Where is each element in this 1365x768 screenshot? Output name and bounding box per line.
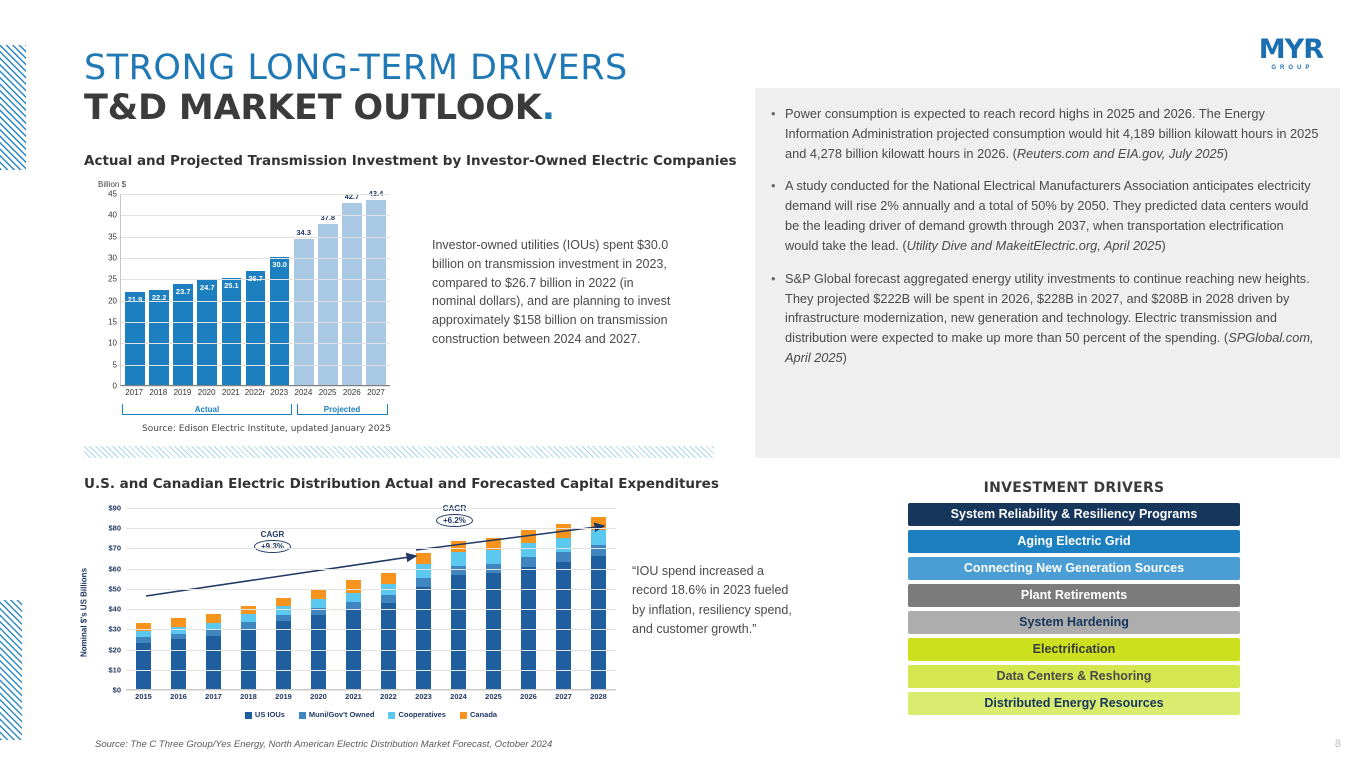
chart2-bar-group (126, 508, 161, 689)
chart2-bar-segment (556, 538, 571, 553)
chart2-bar-group (546, 508, 581, 689)
chart1-x-tick: 2025 (316, 388, 340, 397)
chart1-gridline: 35 (121, 237, 390, 238)
chart2-legend-item: US IOUs (245, 710, 285, 719)
slide-kicker: STRONG LONG-TERM DRIVERS (84, 48, 628, 88)
chart1-y-axis-title: Billion $ (98, 180, 126, 189)
chart1-bar: 22.2 (149, 290, 169, 385)
chart2-source: Source: The C Three Group/Yes Energy, No… (95, 739, 552, 750)
chart1-bar: 24.7 (197, 280, 217, 385)
chart2-gridline: $70 (126, 548, 616, 549)
chart2-y-tick: $70 (108, 544, 121, 553)
chart2-bar-segment (136, 631, 151, 638)
chart2-y-tick: $50 (108, 584, 121, 593)
chart2-bar-segment (591, 545, 606, 556)
chart2-y-tick: $30 (108, 625, 121, 634)
chart2-y-tick: $60 (108, 564, 121, 573)
chart2-stacked-bar (486, 538, 501, 689)
chart2-x-tick: 2022 (371, 692, 406, 701)
chart2-bar-segment (486, 573, 501, 689)
chart2-x-axis: 2015201620172018201920202021202220232024… (126, 692, 616, 701)
chart2-bar-segment (451, 552, 466, 566)
upper-chart-heading: Actual and Projected Transmission Invest… (84, 153, 737, 169)
chart2-y-tick: $20 (108, 645, 121, 654)
chart2-bar-segment (311, 615, 326, 689)
chart2-stacked-bar (206, 614, 221, 689)
chart2-stacked-bar (591, 517, 606, 689)
chart1-gridline: 20 (121, 301, 390, 302)
chart1-bars: 21.922.223.724.725.126.730.034.337.842.7… (121, 194, 390, 385)
chart2-bar-segment (451, 541, 466, 552)
chart2-bar-segment (311, 599, 326, 608)
chart2-y-tick: $90 (108, 504, 121, 513)
distribution-capex-chart: Nominal $'s US Billions CAGR +9.3% CAGR … (90, 500, 635, 730)
chart2-stacked-bar (241, 606, 256, 689)
chart2-x-tick: 2018 (231, 692, 266, 701)
chart2-stacked-bar (136, 623, 151, 690)
chart2-x-tick: 2026 (511, 692, 546, 701)
investment-driver-bar[interactable]: Plant Retirements (908, 584, 1240, 607)
chart2-y-tick: $0 (113, 686, 121, 695)
chart1-x-tick: 2023 (267, 388, 291, 397)
chart2-bar-segment (451, 566, 466, 575)
chart1-bar-value: 34.3 (294, 228, 314, 237)
chart2-bar-segment (241, 614, 256, 622)
bullet-text: Power consumption is expected to reach r… (785, 104, 1320, 163)
chart1-bar-group: 43.4 (364, 194, 388, 385)
upper-side-note: Investor-owned utilities (IOUs) spent $3… (432, 236, 672, 349)
chart2-legend-item: Canada (460, 710, 497, 719)
chart2-bar-segment (276, 621, 291, 689)
chart2-x-tick: 2024 (441, 692, 476, 701)
chart2-legend-swatch (388, 712, 395, 719)
chart2-stacked-bar (276, 598, 291, 689)
chart2-bar-group (301, 508, 336, 689)
chart1-bar-value: 30.0 (270, 260, 290, 269)
chart1-gridline: 0 (121, 386, 390, 387)
chart1-x-tick: 2019 (170, 388, 194, 397)
chart1-y-tick: 40 (108, 211, 117, 220)
cagr-value-2: +6.2% (436, 514, 473, 527)
investment-drivers-panel: INVESTMENT DRIVERS System Reliability & … (908, 480, 1240, 719)
bullet-item: •A study conducted for the National Elec… (771, 176, 1320, 255)
page-title: T&D MARKET OUTLOOK. (84, 88, 555, 128)
chart2-bar-segment (276, 598, 291, 606)
chart1-y-tick: 20 (108, 296, 117, 305)
chart2-x-tick: 2017 (196, 692, 231, 701)
chart1-bar: 30.0 (270, 257, 290, 385)
chart2-bar-group (581, 508, 616, 689)
key-drivers-bullet-panel: •Power consumption is expected to reach … (755, 88, 1340, 458)
chart1-y-tick: 0 (113, 382, 117, 391)
chart1-y-tick: 10 (108, 339, 117, 348)
chart2-x-tick: 2021 (336, 692, 371, 701)
left-lower-hatch-decoration (0, 600, 22, 740)
chart2-gridline: $60 (126, 569, 616, 570)
chart1-x-tick: 2017 (122, 388, 146, 397)
chart2-bar-segment (521, 543, 536, 557)
chart2-bar-segment (381, 595, 396, 603)
investment-driver-bar[interactable]: Data Centers & Reshoring (908, 665, 1240, 688)
chart2-legend-swatch (245, 712, 252, 719)
chart2-bar-segment (311, 590, 326, 599)
chart2-legend-label: Canada (470, 710, 497, 719)
slide: STRONG LONG-TERM DRIVERS T&D MARKET OUTL… (0, 0, 1365, 768)
chart1-bar-value: 24.7 (197, 283, 217, 292)
chart1-bar: 23.7 (173, 284, 193, 385)
investment-driver-bar[interactable]: Electrification (908, 638, 1240, 661)
bullet-citation: Utility Dive and MakeitElectric.org, Apr… (907, 238, 1162, 253)
chart2-bar-segment (241, 606, 256, 614)
chart2-x-tick: 2015 (126, 692, 161, 701)
chart1-bar-group: 23.7 (171, 194, 195, 385)
chart2-bar-segment (556, 552, 571, 562)
chart2-stacked-bar (381, 573, 396, 689)
chart2-y-tick: $80 (108, 524, 121, 533)
cagr-value-1: +9.3% (254, 540, 291, 553)
chart2-plot-area: CAGR +9.3% CAGR +6.2% $90$80$70$60$50$40… (126, 508, 616, 690)
chart2-bar-segment (276, 615, 291, 622)
bracket-projected-label: Projected (320, 405, 364, 414)
chart1-gridline: 45 (121, 194, 390, 195)
chart1-gridline: 30 (121, 258, 390, 259)
chart1-y-tick: 35 (108, 232, 117, 241)
chart1-x-tick: 2021 (219, 388, 243, 397)
chart1-x-tick: 2026 (340, 388, 364, 397)
chart1-bar: 21.9 (125, 292, 145, 385)
chart1-bar-group: 30.0 (268, 194, 292, 385)
chart2-bar-segment (416, 587, 431, 689)
chart1-x-tick: 2020 (195, 388, 219, 397)
chart2-x-tick: 2027 (546, 692, 581, 701)
investment-driver-bar[interactable]: System Reliability & Resiliency Programs (908, 503, 1240, 526)
chart2-bar-segment (206, 614, 221, 622)
chart2-bar-group (441, 508, 476, 689)
page-number: 8 (1335, 738, 1341, 750)
chart1-bar: 25.1 (222, 278, 242, 385)
chart2-stacked-bar (451, 541, 466, 689)
chart2-x-tick: 2020 (301, 692, 336, 701)
chart2-legend-label: US IOUs (255, 710, 285, 719)
chart1-gridline: 25 (121, 279, 390, 280)
chart2-x-tick: 2028 (581, 692, 616, 701)
chart2-bar-group (196, 508, 231, 689)
chart2-bar-segment (346, 580, 361, 593)
chart2-legend-swatch (299, 712, 306, 719)
chart1-bar-group: 25.1 (219, 194, 243, 385)
bullet-citation: Reuters.com and EIA.gov, July 2025 (1017, 146, 1224, 161)
chart2-gridline: $90 (126, 508, 616, 509)
chart1-x-tick: 2024 (291, 388, 315, 397)
bullet-item: •Power consumption is expected to reach … (771, 104, 1320, 163)
chart1-x-tick: 2027 (364, 388, 388, 397)
chart2-bar-segment (381, 603, 396, 689)
chart2-y-tick: $10 (108, 665, 121, 674)
investment-drivers-list: System Reliability & Resiliency Programs… (908, 503, 1240, 715)
bullet-marker: • (771, 104, 785, 163)
chart2-bar-segment (521, 557, 536, 567)
logo-subtext: GROUP (1262, 65, 1323, 71)
chart1-x-tick: 2018 (146, 388, 170, 397)
chart1-x-axis: 201720182019202020212022r202320242025202… (120, 388, 390, 397)
chart2-bar-segment (346, 593, 361, 602)
chart2-gridline: $80 (126, 528, 616, 529)
chart2-bar-segment (556, 524, 571, 537)
chart2-y-axis-title: Nominal $'s US Billions (80, 568, 89, 657)
chart2-bar-segment (171, 618, 186, 626)
chart1-gridline: 40 (121, 215, 390, 216)
chart1-y-tick: 45 (108, 190, 117, 199)
chart1-bar-group: 26.7 (243, 194, 267, 385)
myr-group-logo: MYR GROUP (1259, 36, 1323, 71)
chart1-source: Source: Edison Electric Institute, updat… (142, 424, 391, 434)
chart1-group-brackets: Actual Projected (120, 404, 390, 424)
cagr-label-1: CAGR (254, 530, 291, 539)
investment-drivers-title: INVESTMENT DRIVERS (908, 480, 1240, 496)
chart2-bar-segment (416, 578, 431, 587)
investment-driver-bar[interactable]: Connecting New Generation Sources (908, 557, 1240, 580)
chart2-bar-segment (521, 530, 536, 542)
chart2-gridline: $20 (126, 650, 616, 651)
chart2-legend-swatch (460, 712, 467, 719)
investment-driver-bar[interactable]: Distributed Energy Resources (908, 692, 1240, 715)
chart2-bar-segment (241, 629, 256, 689)
chart2-legend-label: Muni/Gov't Owned (309, 710, 375, 719)
chart1-bar-group: 34.3 (292, 194, 316, 385)
bullet-text: S&P Global forecast aggregated energy ut… (785, 269, 1320, 368)
chart2-gridline: $50 (126, 589, 616, 590)
transmission-investment-chart: Billion $ 21.922.223.724.725.126.730.034… (90, 180, 410, 430)
chart2-bar-group (336, 508, 371, 689)
chart2-bar-segment (206, 636, 221, 689)
investment-driver-bar[interactable]: Aging Electric Grid (908, 530, 1240, 553)
chart2-x-tick: 2025 (476, 692, 511, 701)
chart2-gridline: $10 (126, 670, 616, 671)
chart1-gridline: 15 (121, 322, 390, 323)
chart2-bar-segment (486, 550, 501, 564)
chart1-gridline: 10 (121, 343, 390, 344)
logo-mark: MYR (1259, 36, 1323, 63)
bracket-actual-label: Actual (191, 405, 223, 414)
chart2-stacked-bar (346, 580, 361, 689)
chart1-bar-group: 42.7 (340, 194, 364, 385)
chart2-bar-group (476, 508, 511, 689)
chart2-bar-segment (416, 564, 431, 578)
chart2-stacked-bar (416, 553, 431, 689)
bullet-marker: • (771, 176, 785, 255)
chart2-bar-segment (591, 530, 606, 545)
chart1-bar-group: 21.9 (123, 194, 147, 385)
chart1-bar-group: 37.8 (316, 194, 340, 385)
chart1-bar-group: 24.7 (195, 194, 219, 385)
bullet-marker: • (771, 269, 785, 368)
chart2-bar-segment (381, 573, 396, 584)
lower-quote-note: “IOU spend increased a record 18.6% in 2… (632, 562, 797, 640)
chart1-bar: 42.7 (342, 203, 362, 385)
chart1-bar: 34.3 (294, 239, 314, 385)
chart1-gridline: 5 (121, 365, 390, 366)
title-accent-dot: . (542, 88, 555, 128)
chart2-bar-segment (451, 575, 466, 689)
chart1-bar-value: 25.1 (222, 281, 242, 290)
chart1-plot-area: 21.922.223.724.725.126.730.034.337.842.7… (120, 194, 390, 386)
chart2-x-tick: 2016 (161, 692, 196, 701)
chart2-gridline: $0 (126, 690, 616, 691)
page-title-text: T&D MARKET OUTLOOK (84, 88, 542, 128)
chart2-gridline: $30 (126, 629, 616, 630)
chart1-bar: 37.8 (318, 224, 338, 385)
chart1-bar: 43.4 (366, 200, 386, 385)
chart2-gridline: $40 (126, 609, 616, 610)
chart1-y-tick: 25 (108, 275, 117, 284)
chart2-legend-item: Cooperatives (388, 710, 446, 719)
chart2-bar-group (511, 508, 546, 689)
cagr-annotation-1: CAGR +9.3% (254, 530, 291, 553)
chart2-legend: US IOUsMuni/Gov't OwnedCooperativesCanad… (126, 710, 616, 719)
chart2-bar-group (161, 508, 196, 689)
chart2-legend-item: Muni/Gov't Owned (299, 710, 375, 719)
section-divider-hatch (84, 446, 714, 458)
chart1-bar-value: 37.8 (318, 213, 338, 222)
bullet-text: A study conducted for the National Elect… (785, 176, 1320, 255)
chart2-x-tick: 2023 (406, 692, 441, 701)
chart2-bar-segment (416, 553, 431, 564)
investment-driver-bar[interactable]: System Hardening (908, 611, 1240, 634)
chart2-stacked-bar (311, 590, 326, 689)
chart2-bars (126, 508, 616, 689)
chart1-x-tick: 2022r (243, 388, 267, 397)
chart1-bar-group: 22.2 (147, 194, 171, 385)
bullet-item: •S&P Global forecast aggregated energy u… (771, 269, 1320, 368)
chart1-bar-value: 21.9 (125, 295, 145, 304)
chart1-y-tick: 15 (108, 318, 117, 327)
chart1-y-tick: 30 (108, 254, 117, 263)
chart2-legend-label: Cooperatives (398, 710, 446, 719)
lower-chart-heading: U.S. and Canadian Electric Distribution … (84, 476, 719, 492)
chart2-x-tick: 2019 (266, 692, 301, 701)
chart1-y-tick: 5 (113, 360, 117, 369)
chart1-bar: 26.7 (246, 271, 266, 385)
chart2-bar-segment (171, 639, 186, 689)
chart2-bar-segment (276, 606, 291, 614)
chart2-bar-group (371, 508, 406, 689)
left-edge-hatch-decoration (0, 45, 26, 170)
bullet-citation: SPGlobal.com, April 2025 (785, 330, 1314, 365)
chart2-bar-group (406, 508, 441, 689)
chart1-bar-value: 23.7 (173, 287, 193, 296)
chart2-y-tick: $40 (108, 605, 121, 614)
